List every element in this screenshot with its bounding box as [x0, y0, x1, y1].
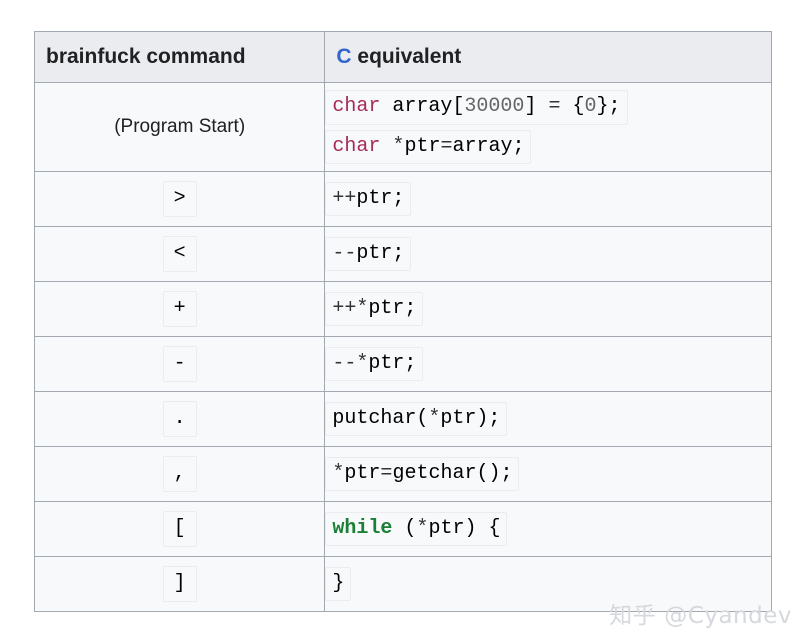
column-header-brainfuck-command: brainfuck command — [35, 32, 325, 83]
brainfuck-c-equivalence-table: brainfuck command C equivalent (Program … — [34, 31, 772, 612]
page-root: brainfuck command C equivalent (Program … — [0, 0, 806, 642]
cell-c-equivalent: *ptr=getchar(); — [325, 447, 772, 502]
brainfuck-command-label: (Program Start) — [114, 116, 245, 137]
brainfuck-command-code: ] — [163, 566, 197, 602]
code-token: array[ — [380, 95, 464, 118]
code-token: ptr); — [440, 407, 500, 430]
c-code-snippet: ++*ptr; — [325, 292, 423, 326]
code-token: ptr — [404, 135, 440, 158]
cell-c-equivalent: putchar(*ptr); — [325, 392, 772, 447]
code-token: ptr; — [368, 352, 416, 375]
c-code-snippet: *ptr=getchar(); — [325, 457, 519, 491]
cell-brainfuck-command: + — [35, 282, 325, 337]
cell-brainfuck-command: . — [35, 392, 325, 447]
code-token: ptr; — [356, 242, 404, 265]
c-code-snippet: --*ptr; — [325, 347, 423, 381]
code-token: char — [332, 135, 380, 158]
cell-c-equivalent: while (*ptr) { — [325, 502, 772, 557]
c-code-snippet: ++ptr; — [325, 182, 411, 216]
cell-c-equivalent: ++ptr; — [325, 172, 772, 227]
brainfuck-command-code: - — [163, 346, 197, 382]
table-row: +++*ptr; — [35, 282, 772, 337]
brainfuck-command-code: < — [163, 236, 197, 272]
c-language-link[interactable]: C — [336, 45, 351, 68]
table-row: (Program Start)char array[30000] = {0};c… — [35, 83, 772, 172]
code-token: * — [392, 135, 404, 158]
brainfuck-command-code: > — [163, 181, 197, 217]
code-token: putchar( — [332, 407, 428, 430]
table-row: [while (*ptr) { — [35, 502, 772, 557]
c-code-snippet: --ptr; — [325, 237, 411, 271]
cell-brainfuck-command: < — [35, 227, 325, 282]
table-body: (Program Start)char array[30000] = {0};c… — [35, 83, 772, 612]
cell-brainfuck-command: - — [35, 337, 325, 392]
brainfuck-command-code: + — [163, 291, 197, 327]
code-token: * — [428, 407, 440, 430]
cell-brainfuck-command: [ — [35, 502, 325, 557]
cell-brainfuck-command: (Program Start) — [35, 83, 325, 172]
cell-brainfuck-command: ] — [35, 557, 325, 612]
column-header-c-equivalent-label: equivalent — [352, 45, 462, 68]
cell-c-equivalent: char array[30000] = {0};char *ptr=array; — [325, 83, 772, 172]
code-token: }; — [597, 95, 621, 118]
table-head: brainfuck command C equivalent — [35, 32, 772, 83]
code-token: ] — [524, 95, 548, 118]
cell-brainfuck-command: , — [35, 447, 325, 502]
code-token: -- — [332, 352, 356, 375]
cell-brainfuck-command: > — [35, 172, 325, 227]
brainfuck-command-code: [ — [163, 511, 197, 547]
table-row: ---*ptr; — [35, 337, 772, 392]
watermark-site: 知乎 — [609, 603, 656, 629]
code-token: 0 — [584, 95, 596, 118]
code-token: } — [332, 572, 344, 595]
code-token: ptr) { — [428, 517, 500, 540]
code-token: array; — [452, 135, 524, 158]
brainfuck-command-code: , — [163, 456, 197, 492]
code-token: ptr; — [368, 297, 416, 320]
code-token: while — [332, 517, 392, 540]
code-token: ++ — [332, 297, 356, 320]
code-token: = — [440, 135, 452, 158]
c-code-snippet: char array[30000] = {0}; — [325, 90, 627, 124]
code-token: * — [332, 462, 344, 485]
cell-c-equivalent: --*ptr; — [325, 337, 772, 392]
column-header-c-equivalent: C equivalent — [325, 32, 772, 83]
code-token: = — [380, 462, 392, 485]
c-code-snippet: char *ptr=array; — [325, 130, 531, 164]
table-row: ,*ptr=getchar(); — [35, 447, 772, 502]
c-code-snippet: } — [325, 567, 351, 601]
code-token: * — [416, 517, 428, 540]
table-row: .putchar(*ptr); — [35, 392, 772, 447]
code-token: * — [356, 352, 368, 375]
watermark: 知乎@Cyandev — [609, 596, 792, 630]
code-token: ptr — [344, 462, 380, 485]
code-token: = — [548, 95, 560, 118]
cell-c-equivalent: --ptr; — [325, 227, 772, 282]
code-token: { — [560, 95, 584, 118]
code-token: 30000 — [464, 95, 524, 118]
code-token: -- — [332, 242, 356, 265]
code-token: * — [356, 297, 368, 320]
code-token: ptr; — [356, 187, 404, 210]
code-token: ( — [392, 517, 416, 540]
c-code-snippet: putchar(*ptr); — [325, 402, 507, 436]
code-token: getchar(); — [392, 462, 512, 485]
code-token: ++ — [332, 187, 356, 210]
table-header-row: brainfuck command C equivalent — [35, 32, 772, 83]
code-token: char — [332, 95, 380, 118]
watermark-handle: @Cyandev — [664, 603, 792, 629]
cell-c-equivalent: ++*ptr; — [325, 282, 772, 337]
code-token — [380, 135, 392, 158]
table-row: >++ptr; — [35, 172, 772, 227]
brainfuck-command-code: . — [163, 401, 197, 437]
table-row: <--ptr; — [35, 227, 772, 282]
column-header-brainfuck-command-label: brainfuck command — [46, 45, 246, 68]
c-code-snippet: while (*ptr) { — [325, 512, 507, 546]
